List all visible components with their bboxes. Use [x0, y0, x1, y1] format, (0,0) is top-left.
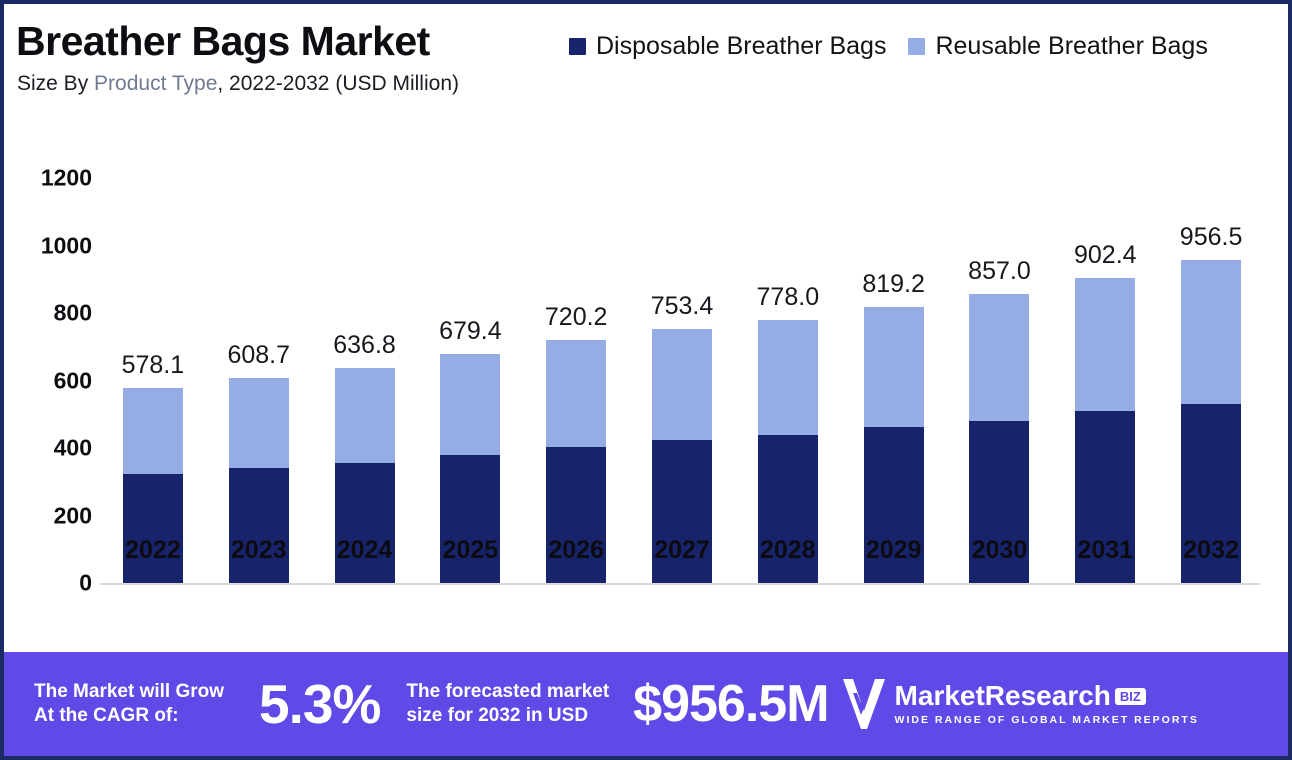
- bar-segment-disposable[interactable]: [229, 468, 289, 583]
- y-axis-tick: 400: [20, 435, 92, 462]
- bar-value-label: 902.4: [1074, 241, 1137, 270]
- y-axis-tick: 200: [20, 502, 92, 529]
- legend-label-disposable: Disposable Breather Bags: [596, 32, 886, 61]
- bar-value-label: 819.2: [862, 270, 925, 299]
- bar-segment-reusable[interactable]: [335, 368, 395, 462]
- bar-value-label: 857.0: [968, 257, 1031, 286]
- bar-value-label: 956.5: [1180, 223, 1243, 252]
- cagr-value: 5.3%: [259, 672, 380, 736]
- bar-segment-disposable[interactable]: [123, 474, 183, 583]
- bar-column[interactable]: 720.22026: [546, 340, 606, 583]
- x-axis-tick: 2024: [337, 536, 393, 565]
- bar-segment-reusable[interactable]: [864, 307, 924, 428]
- chart-subtitle: Size By Product Type, 2022-2032 (USD Mil…: [17, 72, 459, 96]
- bar-value-label: 636.8: [333, 331, 396, 360]
- bar-column[interactable]: 608.72023: [229, 378, 289, 583]
- legend-swatch-reusable: [908, 38, 925, 55]
- bar-column[interactable]: 956.52032: [1181, 260, 1241, 583]
- logo-tagline: WIDE RANGE OF GLOBAL MARKET REPORTS: [895, 715, 1199, 726]
- y-axis-tick: 800: [20, 300, 92, 327]
- bar-segment-reusable[interactable]: [546, 340, 606, 447]
- bar-column[interactable]: 902.42031: [1075, 278, 1135, 583]
- y-axis-tick: 600: [20, 367, 92, 394]
- subtitle-prefix: Size By: [17, 72, 94, 95]
- bar-segment-reusable[interactable]: [440, 354, 500, 455]
- checkmark-icon: [841, 677, 887, 731]
- bar-column[interactable]: 578.12022: [123, 388, 183, 583]
- bar-column[interactable]: 636.82024: [335, 368, 395, 583]
- bar-value-label: 778.0: [757, 283, 820, 312]
- x-axis-tick: 2028: [760, 536, 816, 565]
- bar-column[interactable]: 679.42025: [440, 354, 500, 583]
- subtitle-suffix: , 2022-2032 (USD Million): [217, 72, 459, 95]
- cagr-caption: The Market will Grow At the CAGR of:: [34, 680, 224, 728]
- cagr-caption-line1: The Market will Grow: [34, 680, 224, 704]
- chart-header: Breather Bags Market Size By Product Typ…: [4, 4, 1288, 114]
- bar-column[interactable]: 857.02030: [969, 294, 1029, 583]
- x-axis-tick: 2025: [443, 536, 499, 565]
- forecast-caption-line1: The forecasted market: [406, 680, 609, 704]
- legend-label-reusable: Reusable Breather Bags: [935, 32, 1207, 61]
- x-axis-tick: 2029: [866, 536, 922, 565]
- y-axis-tick: 0: [20, 570, 92, 597]
- chart-legend: Disposable Breather Bags Reusable Breath…: [569, 32, 1208, 61]
- bar-segment-reusable[interactable]: [652, 329, 712, 440]
- x-axis-tick: 2030: [972, 536, 1028, 565]
- forecast-caption-line2: size for 2032 in USD: [406, 704, 609, 728]
- forecast-value: $956.5M: [633, 674, 828, 734]
- bar-value-label: 578.1: [122, 351, 185, 380]
- logo-badge: BIZ: [1115, 688, 1146, 705]
- y-axis-tick: 1000: [20, 232, 92, 259]
- legend-item-reusable[interactable]: Reusable Breather Bags: [908, 32, 1207, 61]
- brand-logo[interactable]: MarketResearch BIZ WIDE RANGE OF GLOBAL …: [841, 677, 1199, 731]
- bar-segment-reusable[interactable]: [1075, 278, 1135, 411]
- x-axis-tick: 2026: [548, 536, 604, 565]
- bar-value-label: 753.4: [651, 292, 714, 321]
- bar-segment-reusable[interactable]: [969, 294, 1029, 421]
- x-axis-tick: 2027: [654, 536, 710, 565]
- bar-column[interactable]: 819.22029: [864, 307, 924, 583]
- bar-segment-reusable[interactable]: [758, 320, 818, 434]
- bar-value-label: 608.7: [227, 341, 290, 370]
- subtitle-accent: Product Type: [94, 72, 217, 95]
- chart-plot-area: 020040060080010001200 578.12022608.72023…: [4, 114, 1288, 654]
- bar-segment-reusable[interactable]: [123, 388, 183, 474]
- x-axis-tick: 2023: [231, 536, 287, 565]
- bar-segment-reusable[interactable]: [229, 378, 289, 468]
- logo-wordmark: MarketResearch BIZ: [895, 682, 1199, 710]
- bar-column[interactable]: 778.02028: [758, 320, 818, 583]
- y-axis-tick: 1200: [20, 165, 92, 192]
- bar-group: 578.12022608.72023636.82024679.42025720.…: [100, 114, 1264, 654]
- bar-segment-reusable[interactable]: [1181, 260, 1241, 404]
- logo-name-text: MarketResearch: [895, 682, 1111, 710]
- legend-swatch-disposable: [569, 38, 586, 55]
- bar-column[interactable]: 753.42027: [652, 329, 712, 583]
- y-axis: 020040060080010001200: [12, 114, 92, 654]
- summary-banner: The Market will Grow At the CAGR of: 5.3…: [4, 652, 1288, 756]
- x-axis-tick: 2032: [1183, 536, 1239, 565]
- logo-text: MarketResearch BIZ WIDE RANGE OF GLOBAL …: [895, 682, 1199, 726]
- forecast-caption: The forecasted market size for 2032 in U…: [406, 680, 609, 728]
- legend-item-disposable[interactable]: Disposable Breather Bags: [569, 32, 886, 61]
- x-axis-tick: 2031: [1077, 536, 1133, 565]
- chart-infographic: Breather Bags Market Size By Product Typ…: [0, 0, 1292, 760]
- x-axis-tick: 2022: [125, 536, 181, 565]
- bar-value-label: 679.4: [439, 317, 502, 346]
- page-title: Breather Bags Market: [16, 18, 430, 65]
- cagr-caption-line2: At the CAGR of:: [34, 704, 224, 728]
- bar-value-label: 720.2: [545, 303, 608, 332]
